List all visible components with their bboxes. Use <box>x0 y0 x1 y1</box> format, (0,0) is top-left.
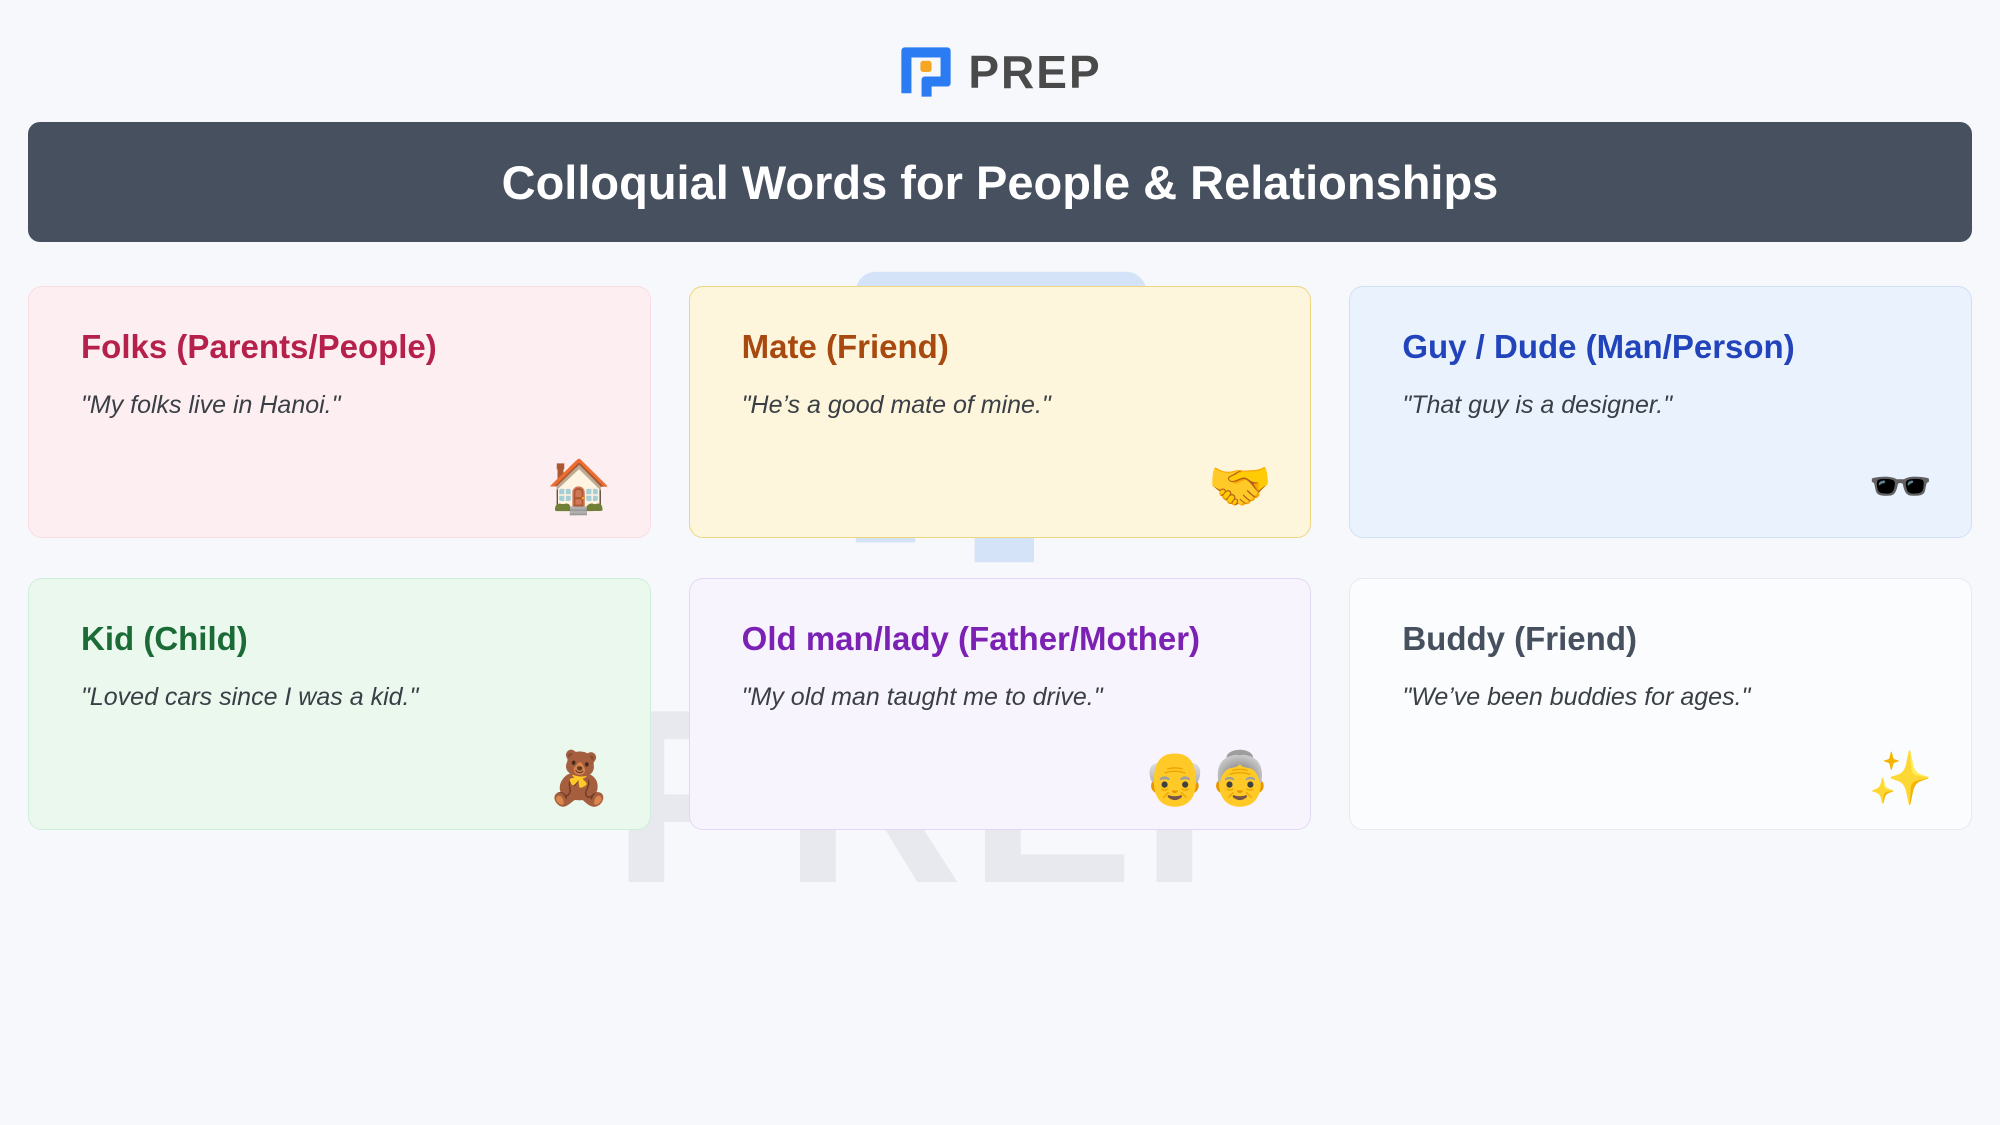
card-example: "We’ve been buddies for ages." <box>1402 683 1923 712</box>
vocabulary-card-grid: Folks (Parents/People) "My folks live in… <box>28 286 1972 830</box>
card-title: Guy / Dude (Man/Person) <box>1402 329 1923 365</box>
brand-header: PREP <box>0 0 2000 110</box>
card-example: "He’s a good mate of mine." <box>742 391 1263 420</box>
teddy-bear-emoji: 🧸 <box>547 753 612 805</box>
vocabulary-card[interactable]: Guy / Dude (Man/Person) "That guy is a d… <box>1349 286 1972 538</box>
page-title: Colloquial Words for People & Relationsh… <box>502 155 1499 210</box>
handshake-emoji: 🤝 <box>1208 461 1273 513</box>
card-example: "My old man taught me to drive." <box>742 683 1263 712</box>
card-title: Mate (Friend) <box>742 329 1263 365</box>
sunglasses-emoji: 🕶️ <box>1868 461 1933 513</box>
prep-logo-mark-icon <box>898 44 954 100</box>
card-example: "My folks live in Hanoi." <box>81 391 602 420</box>
house-emoji: 🏠 <box>547 461 612 513</box>
card-example: "Loved cars since I was a kid." <box>81 683 602 712</box>
vocabulary-card[interactable]: Buddy (Friend) "We’ve been buddies for a… <box>1349 578 1972 830</box>
brand-name: PREP <box>968 45 1101 99</box>
card-title: Folks (Parents/People) <box>81 329 602 365</box>
card-title: Old man/lady (Father/Mother) <box>742 621 1263 657</box>
old-man-and-old-woman-emoji: 👴👵 <box>1143 753 1273 805</box>
card-title: Buddy (Friend) <box>1402 621 1923 657</box>
vocabulary-card[interactable]: Mate (Friend) "He’s a good mate of mine.… <box>689 286 1312 538</box>
vocabulary-card[interactable]: Folks (Parents/People) "My folks live in… <box>28 286 651 538</box>
sparkles-emoji: ✨ <box>1868 753 1933 805</box>
card-example: "That guy is a designer." <box>1402 391 1923 420</box>
card-title: Kid (Child) <box>81 621 602 657</box>
vocabulary-card[interactable]: Kid (Child) "Loved cars since I was a ki… <box>28 578 651 830</box>
title-banner: Colloquial Words for People & Relationsh… <box>28 122 1972 242</box>
vocabulary-card[interactable]: Old man/lady (Father/Mother) "My old man… <box>689 578 1312 830</box>
